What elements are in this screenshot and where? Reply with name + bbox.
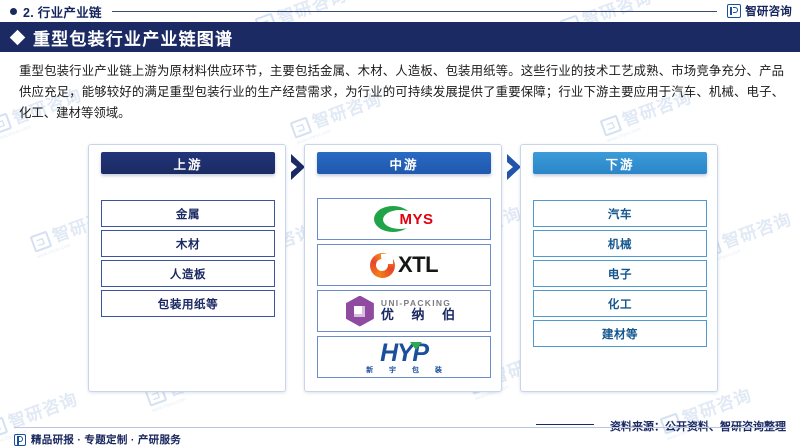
hyp-triangle-icon [410,342,422,350]
hyp-logo: HYP 新 宇 包 装 [359,341,449,374]
footer-divider [14,427,786,428]
xtl-swirl-icon [370,253,395,278]
footer: 精品研报 · 专题定制 · 产研服务 [14,432,181,447]
list-item[interactable]: 化工 [533,290,707,317]
xtl-logo: XTL [370,252,438,278]
list-item[interactable]: 人造板 [101,260,275,287]
list-item[interactable]: UNI-PACKING 优 纳 伯 [317,290,491,332]
list-item[interactable]: 建材等 [533,320,707,347]
page-title-bar: 重型包装行业产业链图谱 [0,22,800,52]
list-item[interactable]: HYP 新 宇 包 装 [317,336,491,378]
body-paragraph: 重型包装行业产业链上游为原材料供应环节，主要包括金属、木材、人造板、包装用纸等。… [19,61,784,124]
column-upstream: 上游 金属 木材 人造板 包装用纸等 [88,144,286,392]
header-divider [112,11,717,12]
diamond-icon [10,29,26,45]
brand-name: 智研咨询 [745,3,792,19]
bullet-icon [10,8,17,15]
uni-packing-hexagon-icon [346,296,374,327]
list-item[interactable]: 汽车 [533,200,707,227]
list-item[interactable]: 电子 [533,260,707,287]
column-heading-midstream: 中游 [317,152,491,174]
hyp-logo-text: HYP [380,341,428,366]
industry-chain-diagram: 上游 金属 木材 人造板 包装用纸等 中游 MYS [0,138,800,400]
source-note: 资料来源：公开资料、智研咨询整理 [610,418,786,434]
column-downstream: 下游 汽车 机械 电子 化工 建材等 [520,144,718,392]
list-item[interactable]: 机械 [533,230,707,257]
uni-packing-logo-text-cn: 优 纳 伯 [381,308,462,323]
hyp-logo-text-cn: 新 宇 包 装 [359,367,449,374]
midstream-logo-list: MYS XTL UNI-PACKING 优 纳 伯 [317,198,491,378]
column-midstream: 中游 MYS XTL [304,144,502,392]
brand-mark-icon [14,434,26,446]
page-title: 重型包装行业产业链图谱 [33,25,233,50]
watermark-mark: ⊐ [0,112,13,134]
column-heading-upstream: 上游 [101,152,275,174]
brand-logo: 智研咨询 [727,3,792,19]
list-item[interactable]: 包装用纸等 [101,290,275,317]
watermark-mark: ⊐ [0,416,9,438]
section-header-bar: 2. 行业产业链 智研咨询 [0,0,800,22]
list-item[interactable]: 金属 [101,200,275,227]
list-item[interactable]: 木材 [101,230,275,257]
downstream-item-list: 汽车 机械 电子 化工 建材等 [533,200,707,347]
uni-packing-logo: UNI-PACKING 优 纳 伯 [346,296,462,327]
upstream-item-list: 金属 木材 人造板 包装用纸等 [101,200,275,317]
column-heading-downstream: 下游 [533,152,707,174]
list-item[interactable]: MYS [317,198,491,240]
xtl-logo-text: XTL [398,252,438,278]
slide-page: ⊐智研咨询www.chyxx.com ⊐智研咨询www.chyxx.com ⊐智… [0,0,800,448]
mys-logo-text: MYS [399,211,433,228]
mys-logo: MYS [374,206,433,232]
section-number-label: 2. 行业产业链 [23,2,102,21]
list-item[interactable]: XTL [317,244,491,286]
source-rule [536,424,594,425]
brand-mark-icon [727,4,741,18]
footer-tagline: 精品研报 · 专题定制 · 产研服务 [31,432,181,447]
uni-packing-wordmark: UNI-PACKING 优 纳 伯 [381,299,462,323]
